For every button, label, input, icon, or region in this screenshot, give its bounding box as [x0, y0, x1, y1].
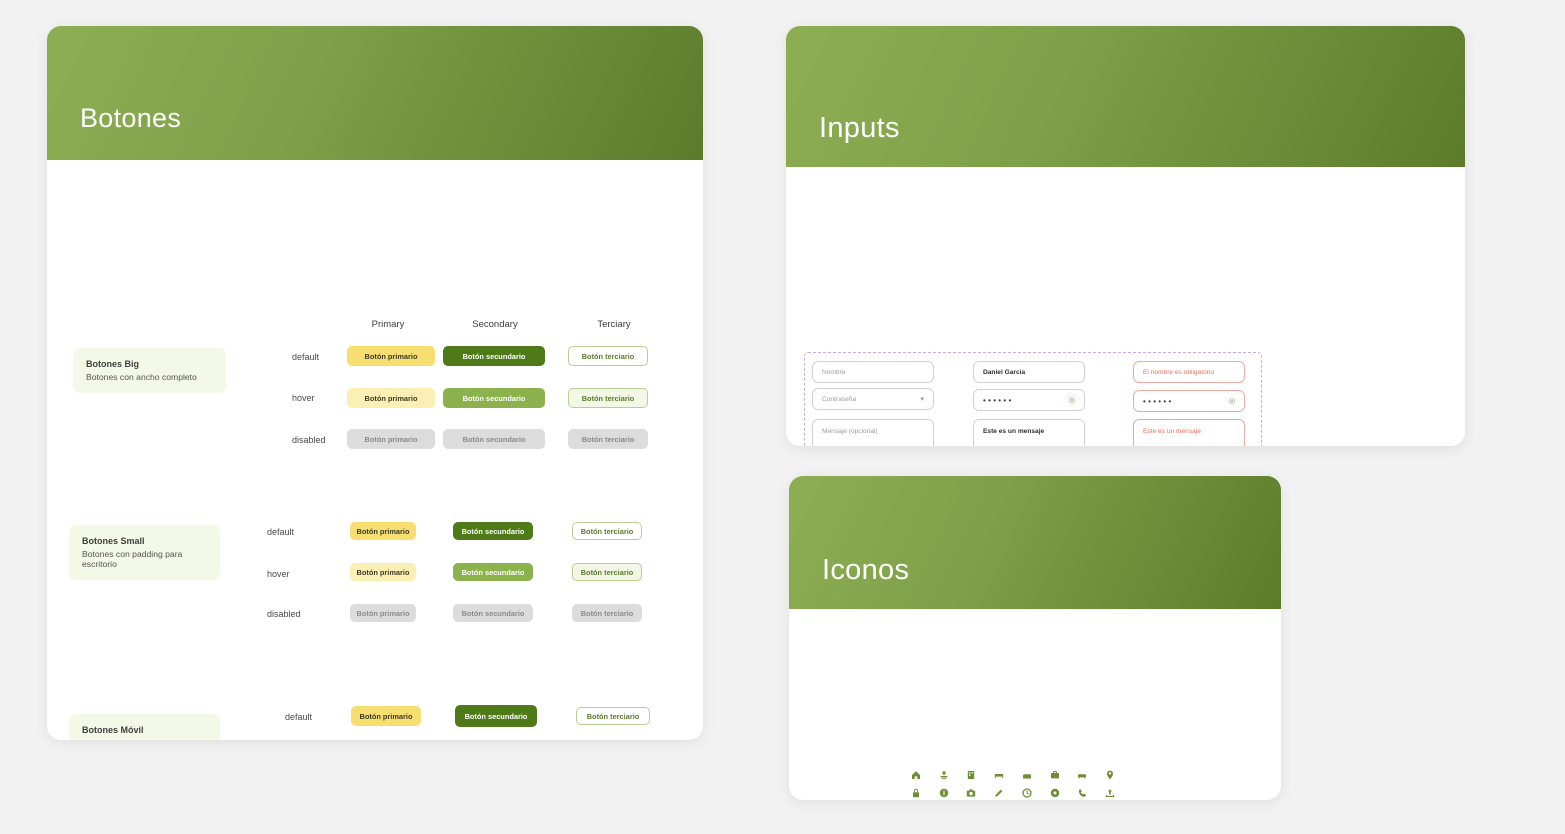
icon-grid	[902, 769, 1124, 800]
button-small-terciary-hover[interactable]: Botón terciario	[572, 563, 642, 581]
column-header-secondary: Secondary	[440, 319, 550, 330]
eye-icon[interactable]: ◎	[1069, 396, 1075, 404]
password-placeholder-text: Contraseña	[822, 396, 856, 403]
sofa-icon[interactable]	[1021, 769, 1032, 780]
state-label-disabled: disabled	[292, 435, 326, 445]
message-textarea-empty[interactable]: Mensaje (opcional)	[812, 419, 934, 446]
button-small-primary-disabled: Botón primario	[350, 604, 416, 622]
info-card-botones-big: Botones Big Botones con ancho completo	[73, 348, 226, 393]
info-card-botones-movil: Botones Móvil Botones con padding para m…	[69, 714, 220, 740]
name-input-filled[interactable]: Daniel Garcia	[973, 361, 1085, 383]
bed-icon[interactable]	[994, 769, 1005, 780]
button-big-primary-default[interactable]: Botón primario	[347, 346, 435, 366]
name-input-error[interactable]: El nombre es obligatorio	[1133, 361, 1245, 383]
message-textarea-filled[interactable]: Este es un mensaje	[973, 419, 1085, 446]
botones-header: Botones	[47, 26, 703, 160]
button-movil-primary-default[interactable]: Botón primario	[351, 706, 421, 726]
password-input-filled[interactable]: •••••• ◎	[973, 389, 1085, 411]
password-masked-value: ••••••	[983, 396, 1014, 405]
button-movil-secondary-default[interactable]: Botón secundario	[455, 705, 537, 727]
home-icon[interactable]	[910, 769, 921, 780]
panel-inputs: Inputs Nombre Daniel Garcia El nombre es…	[786, 26, 1465, 446]
button-big-primary-hover[interactable]: Botón primario	[347, 388, 435, 408]
button-big-secondary-hover[interactable]: Botón secundario	[443, 388, 545, 408]
panel-botones: Botones Primary Secondary Terciary Boton…	[47, 26, 703, 740]
sofa-alt-icon[interactable]	[1077, 769, 1088, 780]
button-small-primary-hover[interactable]: Botón primario	[350, 563, 416, 581]
info-card-botones-small: Botones Small Botones con padding para e…	[69, 525, 220, 580]
page-title-inputs: Inputs	[786, 112, 900, 167]
design-system-page: Botones Primary Secondary Terciary Boton…	[0, 0, 1565, 834]
button-big-terciary-hover[interactable]: Botón terciario	[568, 388, 648, 408]
chevron-down-icon[interactable]: ▾	[920, 395, 924, 403]
state-label-hover: hover	[292, 393, 315, 403]
user-badge-icon[interactable]	[938, 769, 949, 780]
page-title-botones: Botones	[47, 103, 181, 160]
button-small-terciary-disabled: Botón terciario	[572, 604, 642, 622]
password-input-error[interactable]: •••••• ◎	[1133, 390, 1245, 412]
location-pin-icon[interactable]	[1105, 769, 1116, 780]
column-header-primary: Primary	[333, 319, 443, 330]
info-card-subtitle: Botones con ancho completo	[86, 372, 213, 382]
settings-gear-icon[interactable]	[1049, 787, 1060, 798]
info-card-title: Botones Móvil	[82, 725, 207, 735]
button-small-secondary-hover[interactable]: Botón secundario	[453, 563, 533, 581]
button-big-secondary-default[interactable]: Botón secundario	[443, 346, 545, 366]
info-card-title: Botones Small	[82, 536, 207, 546]
state-label-disabled: disabled	[267, 609, 301, 619]
password-masked-value: ••••••	[1143, 397, 1174, 406]
lock-icon[interactable]	[910, 787, 921, 798]
page-title-iconos: Iconos	[789, 554, 909, 609]
button-small-secondary-default[interactable]: Botón secundario	[453, 522, 533, 540]
inputs-header: Inputs	[786, 26, 1465, 167]
state-label-hover: hover	[267, 569, 290, 579]
iconos-header: Iconos	[789, 476, 1281, 609]
button-big-primary-disabled: Botón primario	[347, 429, 435, 449]
button-movil-terciary-default[interactable]: Botón terciario	[576, 707, 650, 725]
phone-icon[interactable]	[1077, 787, 1088, 798]
briefcase-icon[interactable]	[1049, 769, 1060, 780]
message-textarea-error[interactable]: Este es un mensaje	[1133, 419, 1245, 446]
button-small-primary-default[interactable]: Botón primario	[350, 522, 416, 540]
info-card-subtitle: Botones con padding para escritorio	[82, 549, 207, 569]
clock-icon[interactable]	[1021, 787, 1032, 798]
camera-icon[interactable]	[966, 787, 977, 798]
info-card-subtitle: Botones con padding para móvil	[82, 738, 207, 740]
button-big-secondary-disabled: Botón secundario	[443, 429, 545, 449]
button-small-terciary-default[interactable]: Botón terciario	[572, 522, 642, 540]
panel-iconos: Iconos	[789, 476, 1281, 800]
state-label-default: default	[285, 712, 312, 722]
pencil-icon[interactable]	[994, 787, 1005, 798]
column-header-terciary: Terciary	[559, 319, 669, 330]
building-icon[interactable]	[966, 769, 977, 780]
state-label-default: default	[292, 352, 319, 362]
name-input-empty[interactable]: Nombre	[812, 361, 934, 383]
password-input-empty[interactable]: Contraseña ▾	[812, 388, 934, 410]
upload-icon[interactable]	[1105, 787, 1116, 798]
info-circle-icon[interactable]	[938, 787, 949, 798]
button-big-terciary-default[interactable]: Botón terciario	[568, 346, 648, 366]
eye-icon[interactable]: ◎	[1229, 397, 1235, 405]
state-label-default: default	[267, 527, 294, 537]
button-small-secondary-disabled: Botón secundario	[453, 604, 533, 622]
info-card-title: Botones Big	[86, 359, 213, 369]
button-big-terciary-disabled: Botón terciario	[568, 429, 648, 449]
